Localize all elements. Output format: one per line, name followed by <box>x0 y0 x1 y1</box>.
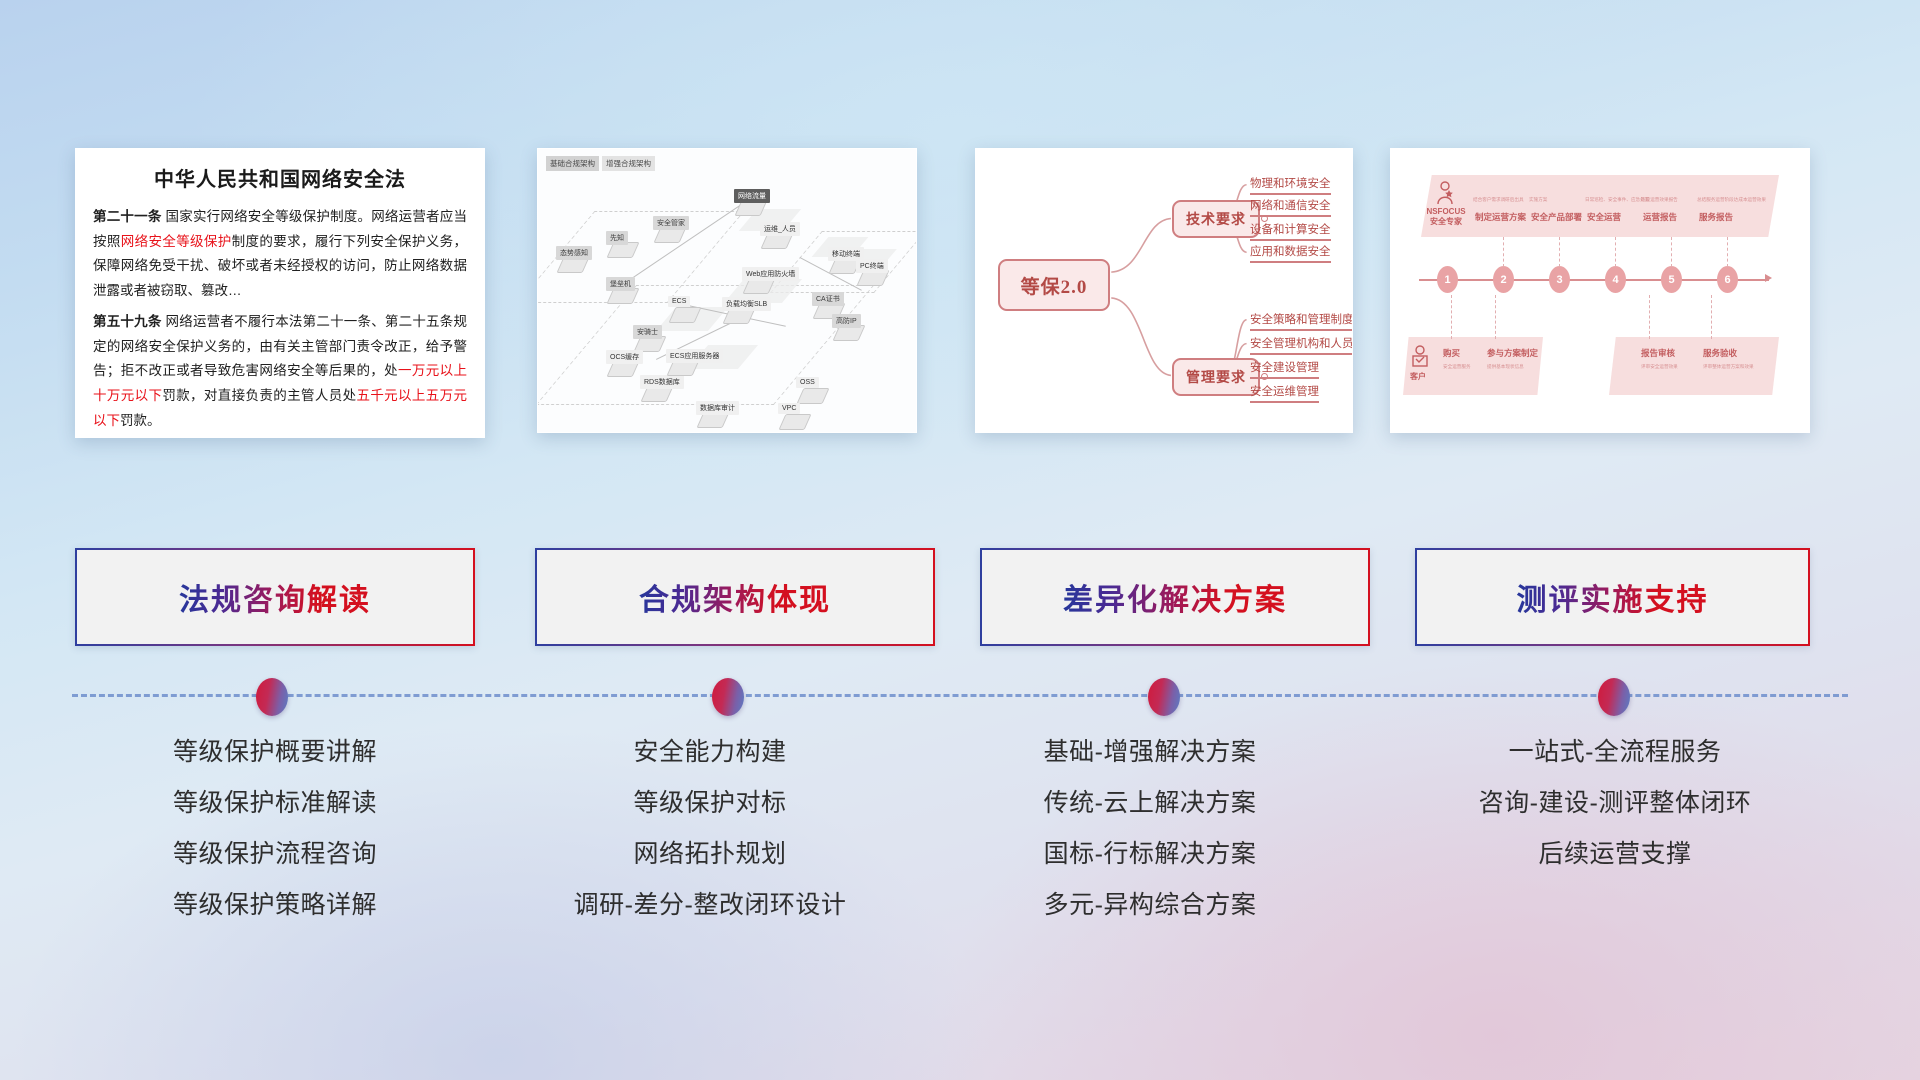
architecture-tabs: 基础合规架构 增强合规架构 <box>546 156 655 171</box>
card-mindmap-dengbao[interactable]: 等保2.0 技术要求 管理要求 物理和环境安全网络和通信安全设备和计算安全应用和… <box>975 148 1353 433</box>
arch-node-label[interactable]: 网络流量 <box>734 189 770 203</box>
roadmap-step-sublabel: 日常巡检、安全事件、应急处置 <box>1585 197 1649 203</box>
arch-node-label[interactable]: 态势感知 <box>556 246 592 260</box>
detail-list-item: 咨询-建设-测评整体闭环 <box>1400 791 1830 816</box>
mindmap-leaf[interactable]: 安全运维管理 <box>1250 383 1319 403</box>
law-paragraphs: 第二十一条 国家实行网络安全等级保护制度。网络运营者应当按照网络安全等级保护制度… <box>93 205 467 433</box>
expert-person-icon <box>1435 181 1455 210</box>
roadmap-step-2[interactable]: 2 <box>1493 266 1514 293</box>
mindmap-leaf[interactable]: 安全建设管理 <box>1250 359 1319 379</box>
mindmap: 等保2.0 技术要求 管理要求 物理和环境安全网络和通信安全设备和计算安全应用和… <box>976 149 1352 432</box>
detail-list-item: 后续运营支撑 <box>1400 842 1830 867</box>
detail-column-2: 安全能力构建等级保护对标网络拓扑规划调研-差分-整改闭环设计 <box>495 740 925 944</box>
arch-tab-enhanced[interactable]: 增强合规架构 <box>602 156 655 171</box>
arch-node-label[interactable]: OCS缓存 <box>606 350 643 364</box>
architecture-diagram: 基础合规架构 增强合规架构 网络流量安全管家先知态势感知堡垒机ECS安骑士O <box>538 149 916 432</box>
roadmap-customer-dashline <box>1711 295 1712 339</box>
roadmap-step-dashline <box>1559 237 1560 267</box>
detail-list-item: 等级保护策略详解 <box>60 893 490 918</box>
detail-columns: 等级保护概要讲解等级保护标准解读等级保护流程咨询等级保护策略详解 安全能力构建等… <box>0 740 1920 970</box>
arch-node-label[interactable]: Web应用防火墙 <box>742 267 799 281</box>
roadmap-customer-action: 服务验收 <box>1703 347 1737 359</box>
arch-node-label[interactable]: RDS数据库 <box>640 375 684 389</box>
mindmap-leaf[interactable]: 安全管理机构和人员 <box>1250 335 1353 355</box>
roadmap-customer-sublabel: 评审整体运营方案和效果 <box>1703 364 1754 370</box>
roadmap-customer-action: 购买 <box>1443 347 1460 359</box>
roadmap-customer-sublabel: 评审安全运营效果 <box>1641 364 1678 370</box>
roadmap-step-sublabel: 实施方案 <box>1529 197 1547 203</box>
detail-list-item: 等级保护对标 <box>495 791 925 816</box>
slide-canvas: 中华人民共和国网络安全法 第二十一条 国家实行网络安全等级保护制度。网络运营者应… <box>0 0 1920 1080</box>
detail-list-item: 调研-差分-整改闭环设计 <box>495 893 925 918</box>
arch-node-label[interactable]: VPC <box>778 403 800 414</box>
card-cybersecurity-law[interactable]: 中华人民共和国网络安全法 第二十一条 国家实行网络安全等级保护制度。网络运营者应… <box>75 148 485 438</box>
mindmap-leaf[interactable]: 应用和数据安全 <box>1250 243 1331 263</box>
roadmap-step-dashline <box>1503 237 1504 267</box>
roadmap-customer-sublabel: 提供基本现状信息 <box>1487 364 1524 370</box>
arch-node-label[interactable]: 安全管家 <box>653 216 689 230</box>
detail-list-item: 等级保护流程咨询 <box>60 842 490 867</box>
mindmap-leaf[interactable]: 安全策略和管理制度 <box>1250 311 1353 331</box>
arch-node-label[interactable]: 高防IP <box>832 314 861 328</box>
mindmap-branch-mgmt[interactable]: 管理要求 <box>1172 358 1260 396</box>
timeline-dot-2[interactable] <box>712 678 744 716</box>
customer-actor-label: 客户 <box>1410 371 1426 382</box>
law-title: 中华人民共和国网络安全法 <box>93 163 467 192</box>
card-service-roadmap[interactable]: NSFOCUS安全专家 客户 12制定运营方案结合客户需求调研后出具3安全产品部… <box>1390 148 1810 433</box>
arch-node-shape <box>796 388 829 404</box>
detail-list-item: 网络拓扑规划 <box>495 842 925 867</box>
roadmap-step-6[interactable]: 6 <box>1717 266 1738 293</box>
arch-node-label[interactable]: ECS应用服务器 <box>666 349 723 363</box>
roadmap-step-sublabel: 阶段运营效果报告 <box>1641 197 1678 203</box>
roadmap-step-label: 安全运营 <box>1587 211 1621 223</box>
mindmap-leaf[interactable]: 设备和计算安全 <box>1250 221 1331 241</box>
timeline-dashed-line <box>72 694 1848 697</box>
law-body: 中华人民共和国网络安全法 第二十一条 国家实行网络安全等级保护制度。网络运营者应… <box>76 149 484 438</box>
timeline-dot-3[interactable] <box>1148 678 1180 716</box>
preview-cards-row: 中华人民共和国网络安全法 第二十一条 国家实行网络安全等级保护制度。网络运营者应… <box>0 148 1920 438</box>
roadmap-step-5[interactable]: 5 <box>1661 266 1682 293</box>
law-article-number: 第二十一条 <box>93 209 162 224</box>
roadmap-step-dashline <box>1671 237 1672 267</box>
mindmap-leaf[interactable]: 网络和通信安全 <box>1250 197 1331 217</box>
roadmap-step-1[interactable]: 1 <box>1437 266 1458 293</box>
roadmap-step-dashline <box>1727 237 1728 267</box>
timeline <box>0 660 1920 720</box>
roadmap-customer-action: 参与方案制定 <box>1487 347 1538 359</box>
arch-node-label[interactable]: 安骑士 <box>633 325 662 339</box>
roadmap-step-label: 制定运营方案 <box>1475 211 1526 223</box>
law-article-number: 第五十九条 <box>93 314 162 329</box>
detail-list-item: 安全能力构建 <box>495 740 925 765</box>
roadmap-step-sublabel: 总结服务运营阶段达成本运营效果 <box>1697 197 1766 203</box>
arch-node-label[interactable]: PC终端 <box>856 259 888 273</box>
detail-column-1: 等级保护概要讲解等级保护标准解读等级保护流程咨询等级保护策略详解 <box>60 740 490 944</box>
arch-node-label[interactable]: 数据库审计 <box>696 401 739 415</box>
mindmap-leaf[interactable]: 物理和环境安全 <box>1250 175 1331 195</box>
roadmap-customer-dashline <box>1649 295 1650 339</box>
roadmap-step-sublabel: 结合客户需求调研后出具 <box>1473 197 1524 203</box>
roadmap-step-dashline <box>1615 237 1616 267</box>
arch-node-label[interactable]: CA证书 <box>812 292 844 306</box>
detail-list-item: 等级保护概要讲解 <box>60 740 490 765</box>
detail-list-item: 多元-异构综合方案 <box>935 893 1365 918</box>
roadmap-customer-dashline <box>1451 295 1452 339</box>
headline-text-3: 差异化解决方案 <box>1063 575 1287 619</box>
detail-column-4: 一站式-全流程服务咨询-建设-测评整体闭环后续运营支撑 <box>1400 740 1830 893</box>
law-paragraph: 第二十一条 国家实行网络安全等级保护制度。网络运营者应当按照网络安全等级保护制度… <box>93 205 467 303</box>
arch-node-label[interactable]: 堡垒机 <box>606 277 635 291</box>
headline-box-2[interactable]: 合规架构体现 <box>535 548 935 646</box>
arch-node-label[interactable]: 运维_人员 <box>760 222 800 236</box>
roadmap-step-4[interactable]: 4 <box>1605 266 1626 293</box>
roadmap-customer-sublabel: 安全运营服务 <box>1443 364 1471 370</box>
mindmap-branch-tech[interactable]: 技术要求 <box>1172 200 1260 238</box>
detail-column-3: 基础-增强解决方案传统-云上解决方案国标-行标解决方案多元-异构综合方案 <box>935 740 1365 944</box>
detail-list-item: 传统-云上解决方案 <box>935 791 1365 816</box>
roadmap-arrow-icon <box>1765 274 1772 282</box>
arch-node-label[interactable]: OSS <box>796 377 819 388</box>
roadmap-band-expert <box>1421 175 1779 237</box>
roadmap-customer-action: 报告审核 <box>1641 347 1675 359</box>
detail-list-item: 等级保护标准解读 <box>60 791 490 816</box>
headline-text-4: 测评实施支持 <box>1517 575 1709 619</box>
law-highlight: 网络安全等级保护 <box>121 234 232 249</box>
headline-box-4[interactable]: 测评实施支持 <box>1415 548 1810 646</box>
expert-actor-label: NSFOCUS安全专家 <box>1423 207 1469 227</box>
roadmap-step-label: 服务报告 <box>1699 211 1733 223</box>
arch-node-label[interactable]: 负载均衡SLB <box>722 297 771 311</box>
roadmap: NSFOCUS安全专家 客户 12制定运营方案结合客户需求调研后出具3安全产品部… <box>1391 149 1809 432</box>
timeline-dot-4[interactable] <box>1598 678 1630 716</box>
roadmap-step-label: 安全产品部署 <box>1531 211 1582 223</box>
detail-list-item: 基础-增强解决方案 <box>935 740 1365 765</box>
law-text: 罚款，对直接负责的主管人员处 <box>162 388 356 403</box>
headline-box-1[interactable]: 法规咨询解读 <box>75 548 475 646</box>
law-text: 罚款。 <box>120 413 161 428</box>
headline-text-2: 合规架构体现 <box>639 575 831 619</box>
card-compliance-architecture[interactable]: 基础合规架构 增强合规架构 网络流量安全管家先知态势感知堡垒机ECS安骑士O <box>537 148 917 433</box>
roadmap-step-3[interactable]: 3 <box>1549 266 1570 293</box>
arch-node-label[interactable]: 先知 <box>606 231 628 245</box>
arch-node-shape <box>778 414 811 430</box>
roadmap-step-label: 运营报告 <box>1643 211 1677 223</box>
detail-list-item: 国标-行标解决方案 <box>935 842 1365 867</box>
arch-tab-basic[interactable]: 基础合规架构 <box>546 156 599 171</box>
detail-list-item: 一站式-全流程服务 <box>1400 740 1830 765</box>
headline-text-1: 法规咨询解读 <box>179 575 371 619</box>
law-paragraph: 第五十九条 网络运营者不履行本法第二十一条、第二十五条规定的网络安全保护义务的，… <box>93 310 467 433</box>
customer-person-icon <box>1411 345 1429 372</box>
headline-box-3[interactable]: 差异化解决方案 <box>980 548 1370 646</box>
timeline-dot-1[interactable] <box>256 678 288 716</box>
roadmap-customer-dashline <box>1495 295 1496 339</box>
mindmap-root[interactable]: 等保2.0 <box>998 259 1110 311</box>
arch-node-label[interactable]: ECS <box>668 296 690 307</box>
headline-row: 法规咨询解读 合规架构体现 差异化解决方案 测评实施支持 <box>0 548 1920 648</box>
